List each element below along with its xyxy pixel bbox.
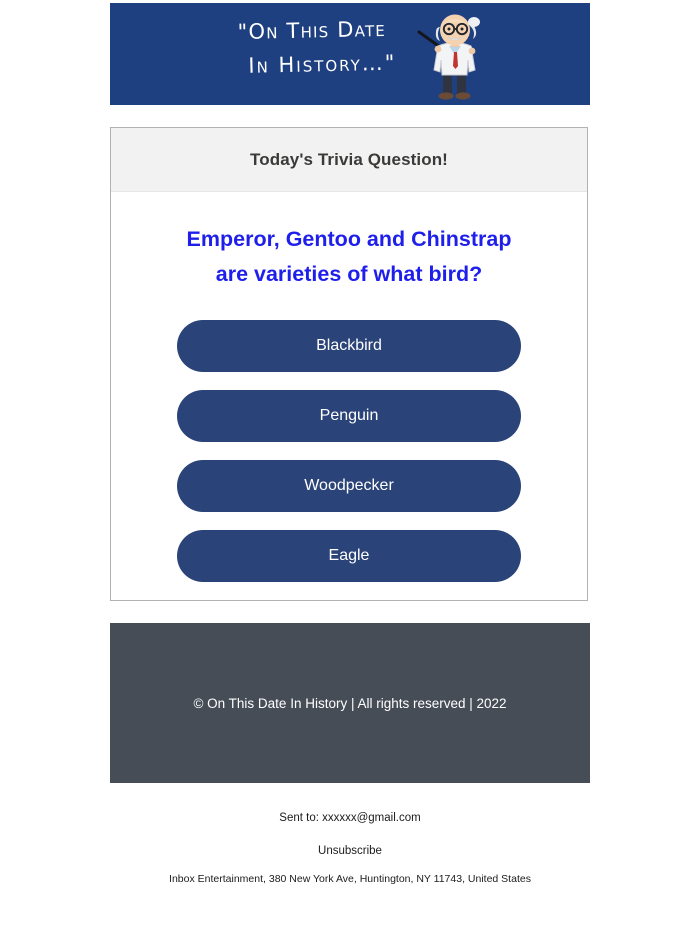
- trivia-card-title: Today's Trivia Question!: [250, 150, 448, 170]
- trivia-card: Today's Trivia Question! Emperor, Gentoo…: [110, 127, 588, 601]
- email-header-banner: "On This Date In History…": [110, 3, 590, 105]
- answer-options-list: Blackbird Penguin Woodpecker Eagle: [111, 320, 587, 582]
- email-body: "On This Date In History…": [0, 0, 700, 935]
- professor-mascot-icon: [416, 7, 494, 103]
- logo-line-2: In History…": [238, 45, 429, 83]
- trivia-question: Emperor, Gentoo and Chinstrap are variet…: [111, 222, 587, 292]
- trivia-card-header: Today's Trivia Question!: [111, 128, 587, 192]
- answer-option-eagle[interactable]: Eagle: [177, 530, 521, 582]
- question-line-1: Emperor, Gentoo and Chinstrap: [187, 227, 512, 251]
- answer-option-blackbird[interactable]: Blackbird: [177, 320, 521, 372]
- brand-logo-text: "On This Date In History…": [237, 11, 428, 83]
- trivia-card-body: Emperor, Gentoo and Chinstrap are variet…: [111, 192, 587, 582]
- answer-option-penguin[interactable]: Penguin: [177, 390, 521, 442]
- company-address: Inbox Entertainment, 380 New York Ave, H…: [0, 873, 700, 885]
- answer-option-woodpecker[interactable]: Woodpecker: [177, 460, 521, 512]
- sent-to-text: Sent to: xxxxxx@gmail.com: [0, 812, 700, 824]
- footer-copyright: © On This Date In History | All rights r…: [193, 696, 506, 711]
- email-footer: © On This Date In History | All rights r…: [110, 623, 590, 783]
- unsubscribe-link[interactable]: Unsubscribe: [318, 845, 382, 857]
- question-line-2: are varieties of what bird?: [216, 262, 482, 286]
- logo-line-1: "On This Date: [237, 11, 428, 49]
- legal-block: Sent to: xxxxxx@gmail.com Unsubscribe In…: [0, 812, 700, 885]
- banner-inner: "On This Date In History…": [110, 3, 590, 105]
